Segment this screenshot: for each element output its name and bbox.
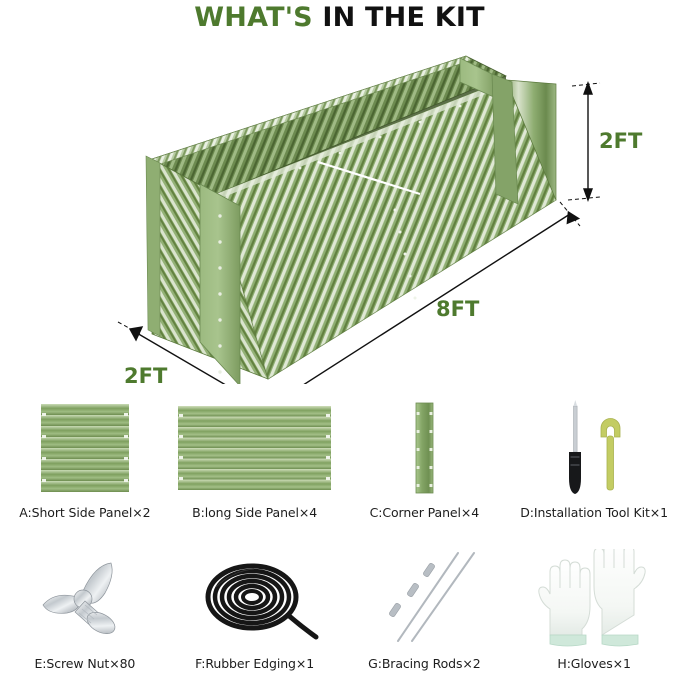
page-title-highlight: WHAT'S xyxy=(194,2,322,33)
panel-ribs xyxy=(41,404,129,492)
wing-nut-body xyxy=(43,563,118,638)
part-c-label: C:Corner Panel×4 xyxy=(370,505,480,520)
bracing-rods-icon xyxy=(354,549,494,649)
page-title: WHAT'S IN THE KIT xyxy=(0,2,679,33)
glove-right-cuff xyxy=(602,635,638,646)
work-gloves-icon xyxy=(524,549,664,649)
corner-panel-left-edge xyxy=(146,156,160,336)
dimension-label-length: 8FT xyxy=(436,297,479,321)
part-d-label: D:Installation Tool Kit×1 xyxy=(520,505,668,520)
part-item-g[interactable]: G:Bracing Rods×2 xyxy=(340,536,510,671)
parts-row-top: A:Short Side Panel×2 xyxy=(0,388,679,520)
part-e-label: E:Screw Nut×80 xyxy=(34,656,135,671)
screwdriver-icon xyxy=(569,400,581,494)
rods xyxy=(398,553,474,641)
part-b-art xyxy=(172,398,337,498)
glove-left-cuff xyxy=(550,635,586,646)
parts-row-bottom: E:Screw Nut×80 F:Rubber Edging×1 xyxy=(0,536,679,671)
planter-box xyxy=(146,56,556,384)
rod-connectors xyxy=(389,563,436,618)
part-item-b[interactable]: B:long Side Panel×4 xyxy=(170,388,340,520)
part-h-label: H:Gloves×1 xyxy=(557,656,630,671)
part-c-art xyxy=(394,398,454,498)
part-f-art xyxy=(190,549,320,649)
part-item-d[interactable]: D:Installation Tool Kit×1 xyxy=(509,388,679,520)
screwdriver-wrench-icon xyxy=(539,398,649,498)
part-f-label: F:Rubber Edging×1 xyxy=(195,656,314,671)
dimension-label-height: 2FT xyxy=(599,129,642,153)
coil-rings xyxy=(208,566,296,628)
wrench-icon xyxy=(601,419,620,491)
part-g-label: G:Bracing Rods×2 xyxy=(368,656,481,671)
part-item-a[interactable]: A:Short Side Panel×2 xyxy=(0,388,170,520)
part-a-art xyxy=(29,398,141,498)
wing-nut-icon xyxy=(25,549,145,649)
product-diagram: 2FT 8FT 2FT xyxy=(0,34,679,384)
part-a-label: A:Short Side Panel×2 xyxy=(19,505,150,520)
corrugated-short-panel-icon xyxy=(29,398,141,498)
part-item-f[interactable]: F:Rubber Edging×1 xyxy=(170,536,340,671)
page-title-rest: IN THE KIT xyxy=(322,2,484,33)
part-b-label: B:long Side Panel×4 xyxy=(192,505,317,520)
part-item-h[interactable]: H:Gloves×1 xyxy=(509,536,679,671)
raised-bed-illustration xyxy=(0,34,679,384)
part-d-art xyxy=(539,398,649,498)
glove-right xyxy=(594,549,645,646)
part-item-c[interactable]: C:Corner Panel×4 xyxy=(340,388,510,520)
corrugated-long-panel-icon xyxy=(172,398,337,498)
coil-tail xyxy=(288,615,316,637)
rubber-coil-icon xyxy=(190,549,320,649)
dimension-label-depth: 2FT xyxy=(124,364,167,388)
part-g-art xyxy=(354,549,494,649)
corner-panel-strip-icon xyxy=(394,398,454,498)
part-item-e[interactable]: E:Screw Nut×80 xyxy=(0,536,170,671)
glove-left xyxy=(539,560,590,646)
part-e-art xyxy=(25,549,145,649)
part-h-art xyxy=(524,549,664,649)
panel-ribs xyxy=(178,406,331,490)
